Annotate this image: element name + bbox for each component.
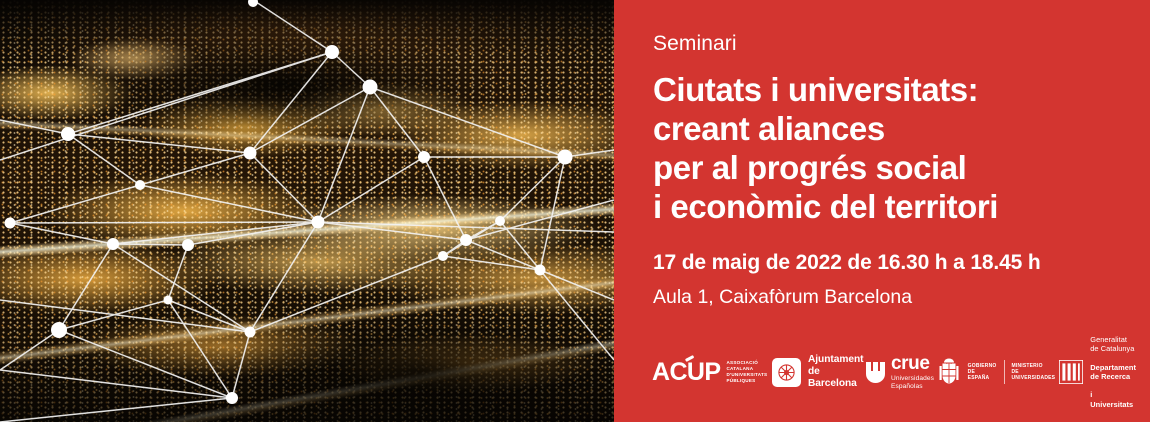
logo-gobierno-de-espana: GOBIERNO DE ESPAÑA MINISTERIO DE UNIVERS… xyxy=(937,352,1056,392)
event-banner: Seminari Ciutats i universitats: creant … xyxy=(0,0,1150,422)
crue-text-block: crue Universidades Españolas xyxy=(891,354,934,391)
event-venue: Aula 1, Caixafòrum Barcelona xyxy=(653,288,1150,308)
crue-wordmark: crue xyxy=(891,354,934,373)
generalitat-label: Generalitat de Catalunya Departament de … xyxy=(1090,326,1136,418)
crue-symbol-icon xyxy=(866,362,885,383)
ajuntament-crest-icon xyxy=(772,358,801,387)
event-title-line-1: Ciutats i universitats: xyxy=(653,70,1150,109)
network-overlay-icon xyxy=(0,0,614,422)
ministerio-label: MINISTERIO DE UNIVERSIDADES xyxy=(1012,363,1056,381)
logo-ajuntament-de-barcelona: Ajuntament de Barcelona xyxy=(772,352,864,392)
logo-acup: ACUP ASSOCIACIÓ CATALANA D'UNIVERSITATS … xyxy=(652,352,767,392)
spain-coat-of-arms-icon xyxy=(937,357,961,387)
logo-generalitat-de-catalunya: Generalitat de Catalunya Departament de … xyxy=(1059,352,1136,392)
crue-subtitle: Universidades Españolas xyxy=(891,375,934,391)
generalitat-line-3: i Universitats xyxy=(1090,390,1136,408)
logo-crue: crue Universidades Españolas xyxy=(866,352,934,392)
logo-divider xyxy=(1004,360,1005,384)
acup-wordmark: ACUP xyxy=(652,360,720,385)
event-info-panel: Seminari Ciutats i universitats: creant … xyxy=(614,0,1150,422)
event-kicker: Seminari xyxy=(653,33,1150,54)
sponsor-logo-strip: ACUP ASSOCIACIÓ CATALANA D'UNIVERSITATS … xyxy=(652,352,1136,392)
gobierno-label: GOBIERNO DE ESPAÑA xyxy=(968,363,997,381)
generalitat-line-1: Generalitat de Catalunya xyxy=(1090,335,1136,353)
event-title-line-3: per al progrés social xyxy=(653,148,1150,187)
acup-subtitle: ASSOCIACIÓ CATALANA D'UNIVERSITATS PÚBLI… xyxy=(726,360,767,385)
generalitat-bars-icon xyxy=(1059,360,1083,384)
city-night-photo xyxy=(0,0,614,422)
generalitat-line-2: Departament de Recerca xyxy=(1090,363,1136,381)
event-title-line-2: creant aliances xyxy=(653,109,1150,148)
event-title-line-4: i econòmic del territori xyxy=(653,187,1150,226)
event-datetime: 17 de maig de 2022 de 16.30 h a 18.45 h xyxy=(653,252,1150,273)
ajuntament-label: Ajuntament de Barcelona xyxy=(808,354,864,390)
event-title: Ciutats i universitats: creant aliances … xyxy=(653,70,1150,226)
